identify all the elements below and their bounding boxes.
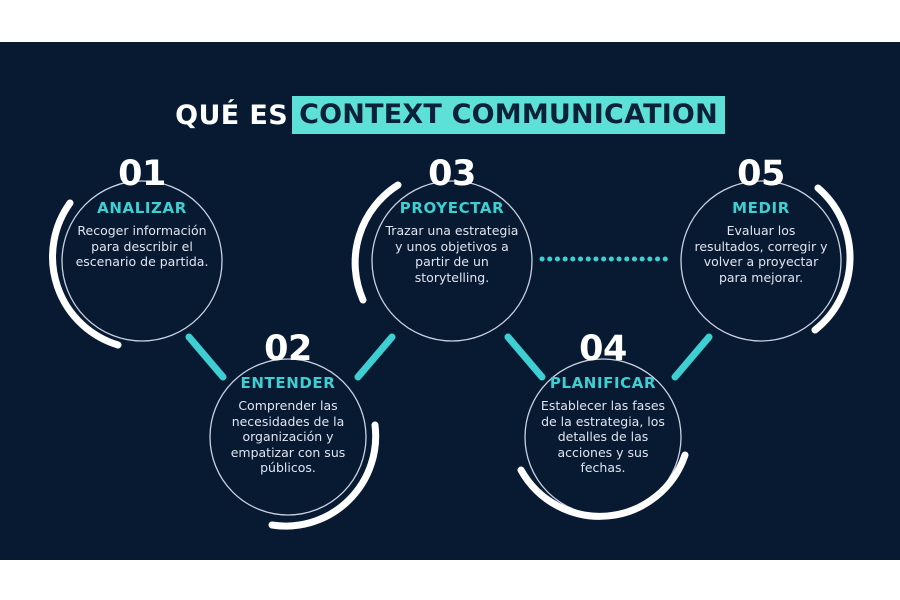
step-number: 01	[57, 157, 227, 192]
step-number: 04	[518, 332, 688, 367]
step-description: Evaluar los resultados, corregir y volve…	[676, 223, 846, 285]
step-title: PROYECTAR	[367, 201, 537, 216]
step-node-04[interactable]: 04 PLANIFICAR Establecer las fases de la…	[518, 332, 688, 476]
step-title: ENTENDER	[203, 376, 373, 391]
step-title: MEDIR	[676, 201, 846, 216]
step-node-03[interactable]: 03 PROYECTAR Trazar una estrategia y uno…	[367, 157, 537, 285]
step-number: 03	[367, 157, 537, 192]
title-plain-text: QUÉ ES	[175, 102, 288, 129]
step-title: ANALIZAR	[57, 201, 227, 216]
infographic-canvas: QUÉ ESCONTEXT COMMUNICATION 01 ANALIZAR	[0, 0, 900, 600]
page-title: QUÉ ESCONTEXT COMMUNICATION	[0, 96, 900, 134]
step-number: 02	[203, 332, 373, 367]
step-description: Trazar una estrategia y unos objetivos a…	[367, 223, 537, 285]
step-title: PLANIFICAR	[518, 376, 688, 391]
step-description: Comprender las necesidades de la organiz…	[203, 398, 373, 476]
step-description: Recoger información para describir el es…	[57, 223, 227, 270]
step-node-01[interactable]: 01 ANALIZAR Recoger información para des…	[57, 157, 227, 270]
title-highlight-text: CONTEXT COMMUNICATION	[292, 96, 725, 134]
step-node-05[interactable]: 05 MEDIR Evaluar los resultados, corregi…	[676, 157, 846, 285]
step-number: 05	[676, 157, 846, 192]
step-description: Establecer las fases de la estrategia, l…	[518, 398, 688, 476]
step-node-02[interactable]: 02 ENTENDER Comprender las necesidades d…	[203, 332, 373, 476]
